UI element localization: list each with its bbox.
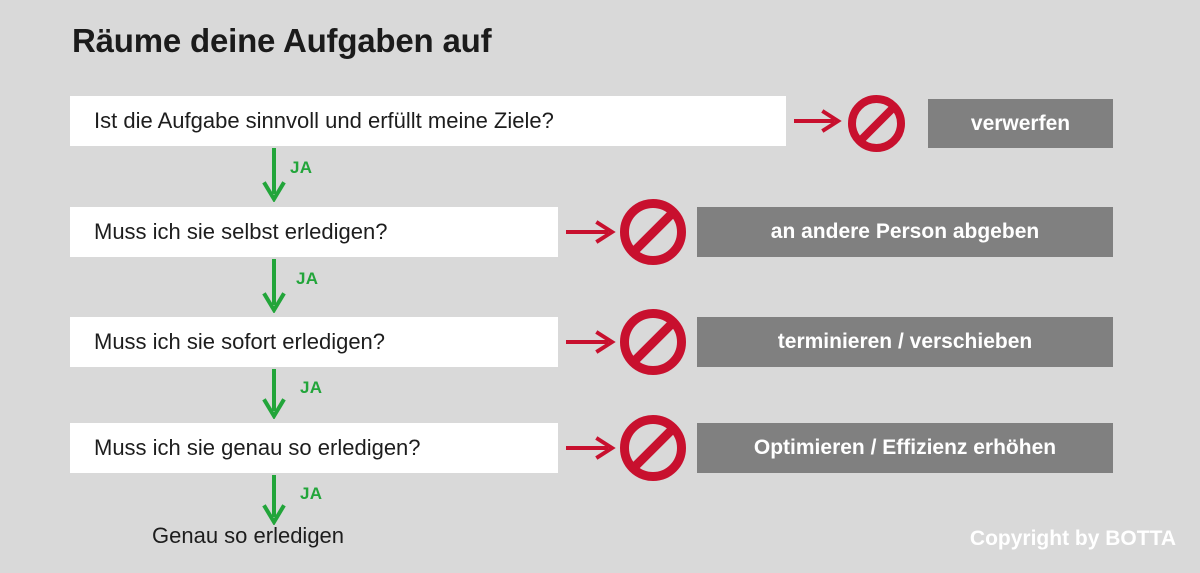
question-box-4: Muss ich sie genau so erledigen? bbox=[70, 423, 558, 473]
arrow-down-icon-4 bbox=[261, 475, 287, 525]
prohibition-icon-3 bbox=[620, 309, 686, 375]
branch-label-1: JA bbox=[290, 158, 312, 178]
arrow-right-icon-1 bbox=[794, 109, 842, 133]
page-title: Räume deine Aufgaben auf bbox=[72, 22, 491, 60]
question-text-4: Muss ich sie genau so erledigen? bbox=[94, 435, 421, 461]
outcome-text-3: terminieren / verschieben bbox=[778, 330, 1032, 354]
prohibition-bar bbox=[632, 321, 674, 363]
outcome-text-4: Optimieren / Effizienz erhöhen bbox=[754, 436, 1056, 460]
prohibition-icon-2 bbox=[620, 199, 686, 265]
prohibition-bar bbox=[859, 106, 894, 141]
branch-label-4: JA bbox=[300, 484, 322, 504]
question-text-3: Muss ich sie sofort erledigen? bbox=[94, 329, 385, 355]
arrow-down-icon-1 bbox=[261, 148, 287, 202]
outcome-box-3: terminieren / verschieben bbox=[697, 317, 1113, 367]
outcome-box-1: verwerfen bbox=[928, 99, 1113, 148]
prohibition-bar bbox=[632, 211, 674, 253]
arrow-right-icon-4 bbox=[566, 436, 616, 460]
question-box-2: Muss ich sie selbst erledigen? bbox=[70, 207, 558, 257]
arrow-down-icon-2 bbox=[261, 259, 287, 313]
branch-label-2: JA bbox=[296, 269, 318, 289]
arrow-down-icon-3 bbox=[261, 369, 287, 419]
prohibition-icon-4 bbox=[620, 415, 686, 481]
question-box-1: Ist die Aufgabe sinnvoll und erfüllt mei… bbox=[70, 96, 786, 146]
prohibition-icon-1 bbox=[848, 95, 905, 152]
arrow-right-icon-2 bbox=[566, 220, 616, 244]
prohibition-bar bbox=[632, 427, 674, 469]
arrow-right-icon-3 bbox=[566, 330, 616, 354]
question-box-3: Muss ich sie sofort erledigen? bbox=[70, 317, 558, 367]
branch-label-3: JA bbox=[300, 378, 322, 398]
outcome-text-1: verwerfen bbox=[971, 112, 1070, 136]
question-text-1: Ist die Aufgabe sinnvoll und erfüllt mei… bbox=[94, 108, 554, 134]
copyright-text: Copyright by BOTTA bbox=[970, 527, 1176, 551]
outcome-box-2: an andere Person abgeben bbox=[697, 207, 1113, 257]
flowchart-canvas: Räume deine Aufgaben auf Ist die Aufgabe… bbox=[0, 0, 1200, 573]
outcome-box-4: Optimieren / Effizienz erhöhen bbox=[697, 423, 1113, 473]
outcome-text-2: an andere Person abgeben bbox=[771, 220, 1039, 244]
question-text-2: Muss ich sie selbst erledigen? bbox=[94, 219, 387, 245]
final-result-text: Genau so erledigen bbox=[152, 523, 344, 549]
